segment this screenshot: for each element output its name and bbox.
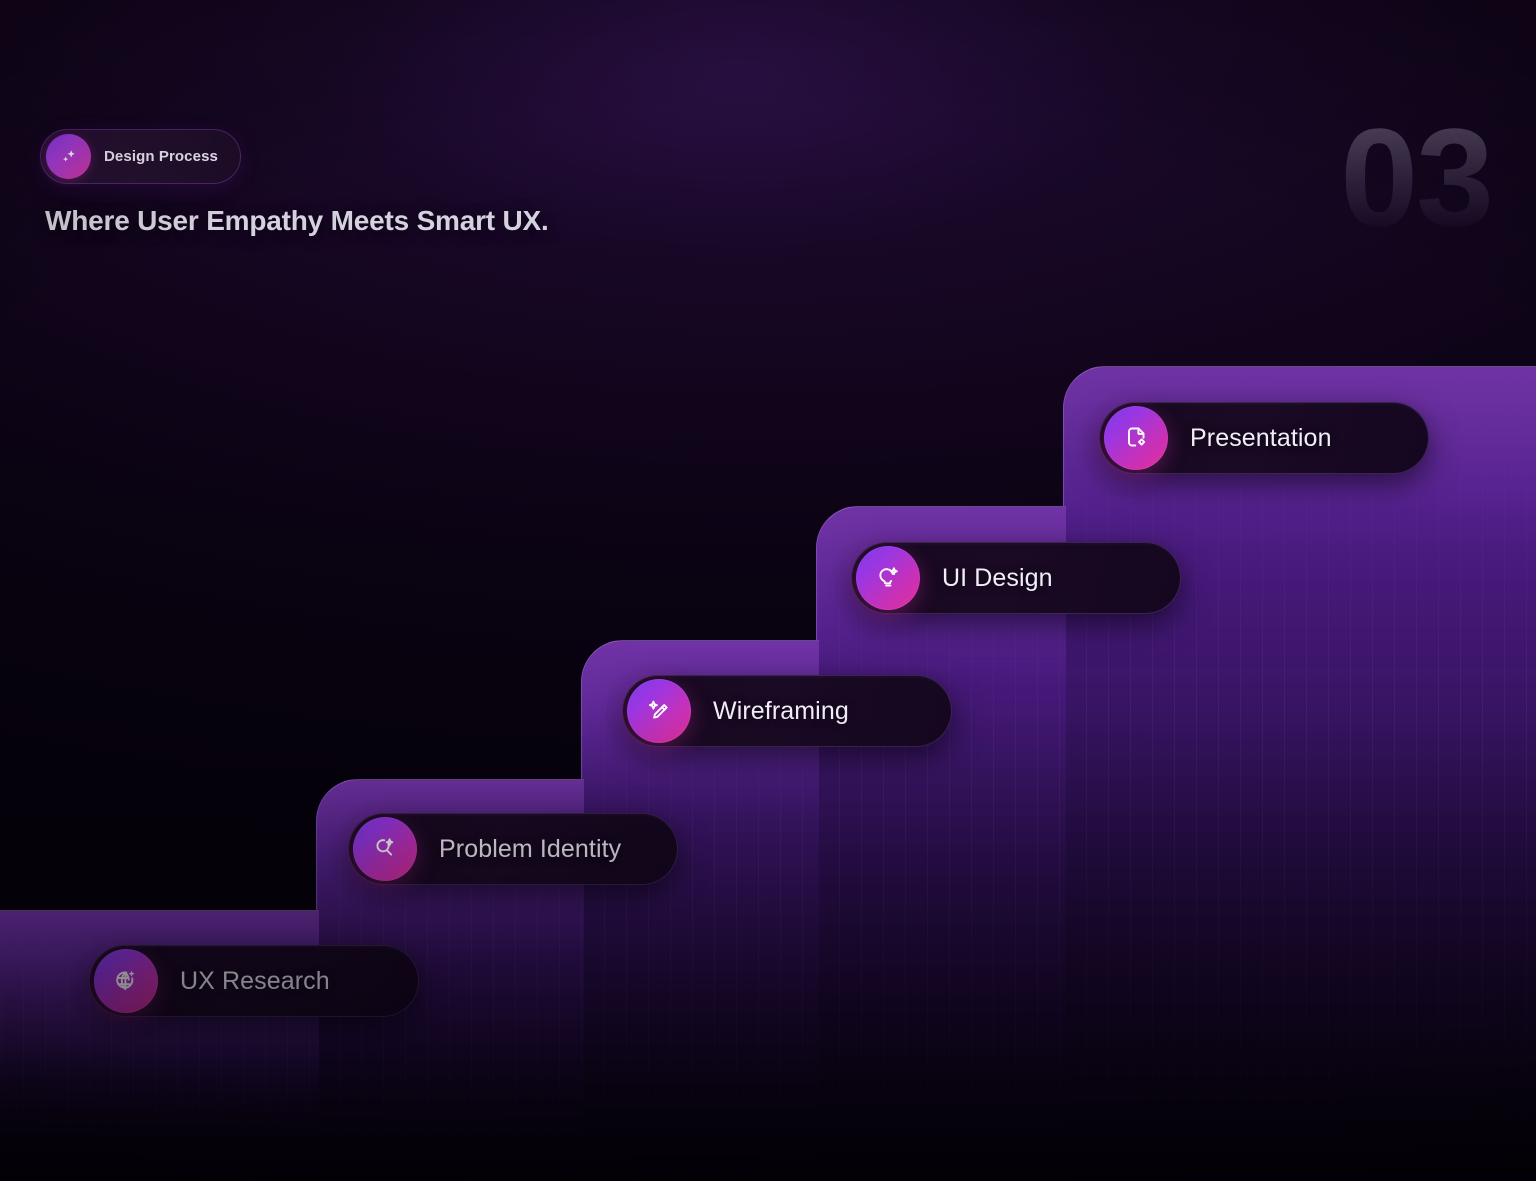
badge-label: Design Process [104,148,218,165]
globe-sparkle-icon [94,949,158,1013]
page-title: Where User Empathy Meets Smart UX. [45,205,549,237]
lightbulb-sparkle-icon [856,546,920,610]
step-label: Wireframing [713,697,849,726]
slide-canvas: Design Process Where User Empathy Meets … [0,0,1536,1181]
step-pill-wireframing[interactable]: Wireframing [622,675,952,747]
search-sparkle-icon [353,817,417,881]
design-process-badge[interactable]: Design Process [40,129,241,184]
step-pill-ux-research[interactable]: UX Research [89,945,419,1017]
step-label: Problem Identity [439,835,621,864]
section-number: 03 [1340,108,1492,248]
step-line-texture [1064,367,1536,1181]
sparkle-icon [46,134,91,179]
step-label: UX Research [180,967,330,996]
step-pill-ui-design[interactable]: UI Design [851,542,1181,614]
step-label: UI Design [942,564,1053,593]
step-pill-presentation[interactable]: Presentation [1099,402,1429,474]
stair-step-presentation [1063,366,1536,1181]
step-label: Presentation [1190,424,1332,453]
pencil-sparkle-icon [627,679,691,743]
step-pill-problem-identity[interactable]: Problem Identity [348,813,678,885]
document-diamond-icon [1104,406,1168,470]
